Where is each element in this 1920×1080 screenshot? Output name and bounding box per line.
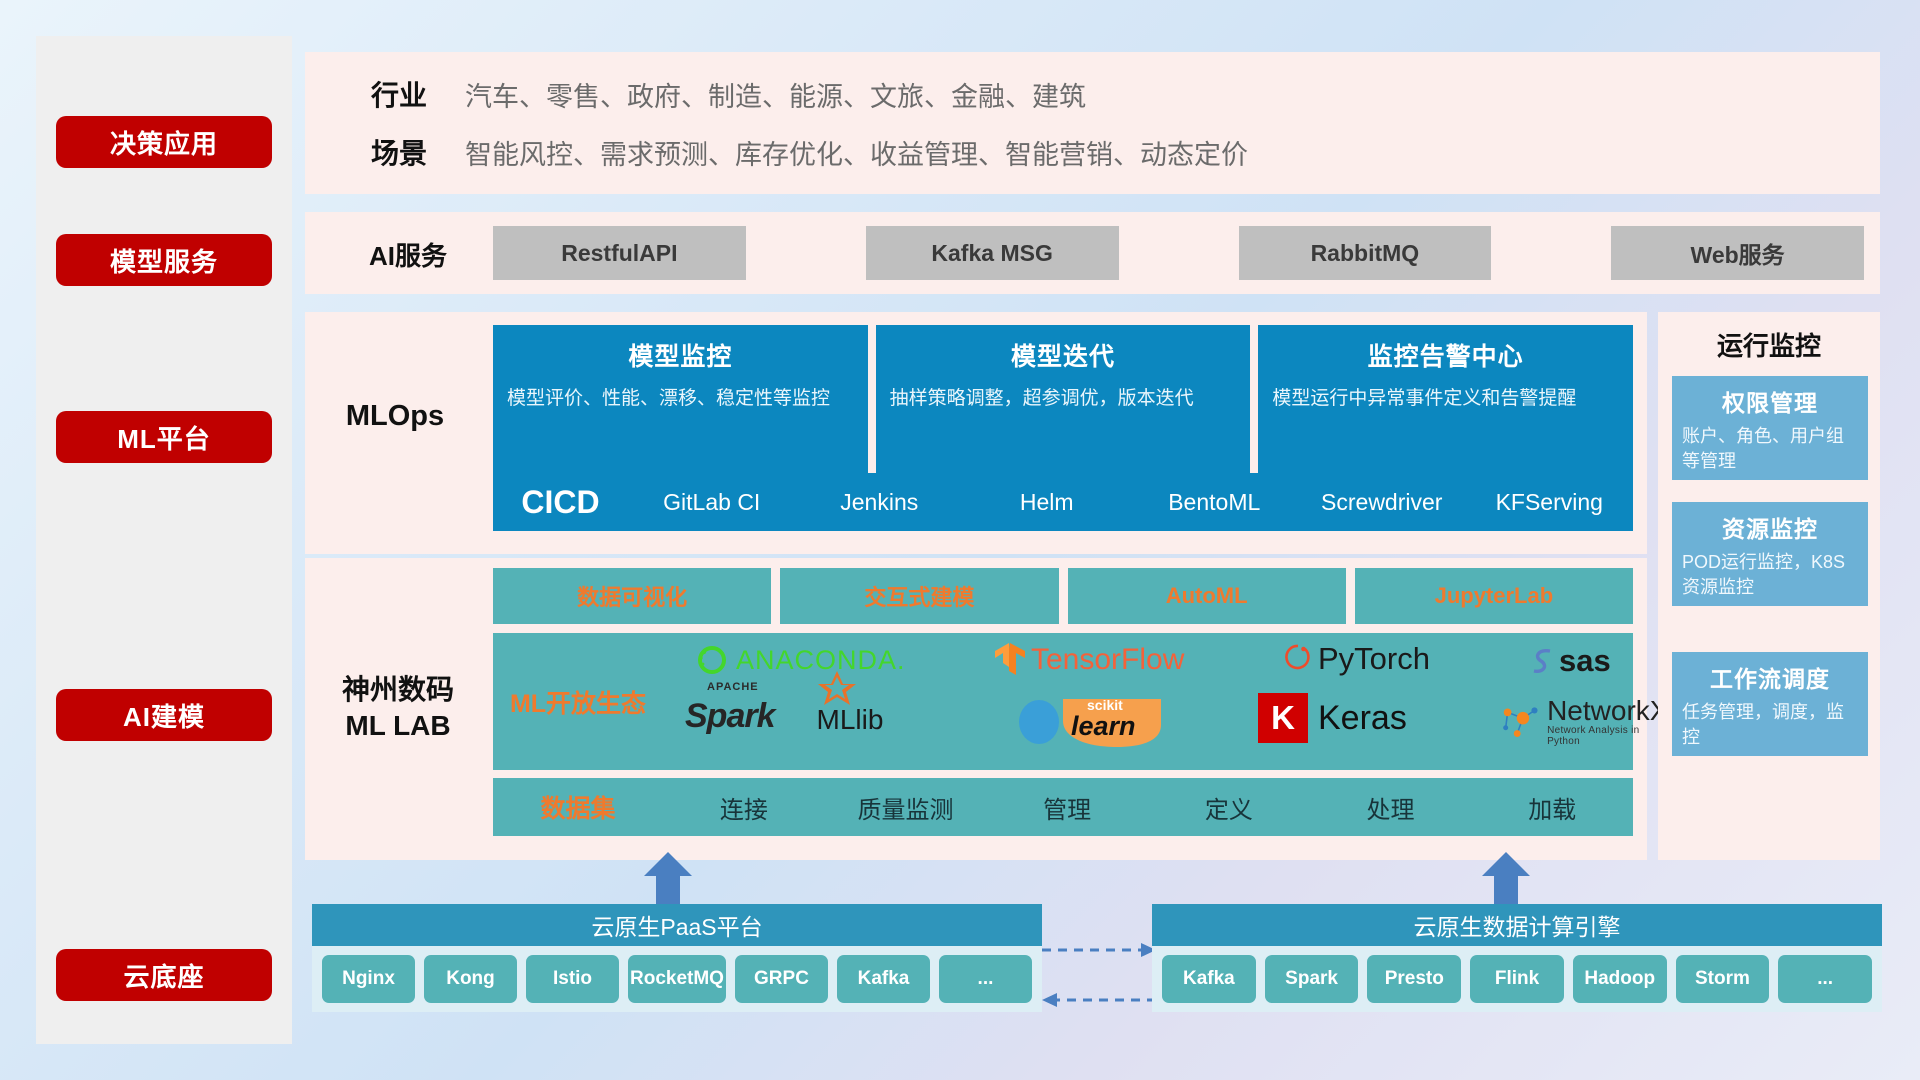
- cloud-data-engine-chip-row: Kafka Spark Presto Flink Hadoop Storm ..…: [1152, 946, 1882, 1012]
- cloud-paas-chip-row: Nginx Kong Istio RocketMQ GRPC Kafka ...: [312, 946, 1042, 1012]
- mllib-wordmark: MLlib: [817, 704, 884, 736]
- card-description: 模型运行中异常事件定义和告警提醒: [1272, 385, 1619, 413]
- runtime-monitor-band: 运行监控 权限管理 账户、角色、用户组等管理 资源监控 POD运行监控，K8S资…: [1658, 312, 1880, 860]
- card-description: 账户、角色、用户组等管理: [1682, 424, 1858, 474]
- modeling-tool-tabs: 数据可视化 交互式建模 AutoML JupyterLab: [493, 568, 1633, 624]
- mlops-card-model-iteration[interactable]: 模型迭代 抽样策略调整，超参调优，版本迭代: [876, 325, 1251, 473]
- ml-ecosystem-box: ML开放生态 ANACONDA. TensorFlow: [493, 633, 1633, 770]
- industry-row: 行业 汽车、零售、政府、制造、能源、文旅、金融、建筑: [333, 74, 1086, 114]
- anaconda-logo: ANACONDA.: [695, 643, 906, 677]
- dataset-bar: 数据集 连接 质量监测 管理 定义 处理 加载: [493, 778, 1633, 836]
- dataset-item-quality-monitor[interactable]: 质量监测: [825, 790, 987, 825]
- sas-wordmark: sas: [1559, 643, 1611, 679]
- ai-service-label: AI服务: [343, 236, 473, 273]
- cicd-item-jenkins[interactable]: Jenkins: [796, 473, 964, 531]
- mlops-label: MLOps: [330, 400, 460, 433]
- ml-ecosystem-label: ML开放生态: [493, 684, 663, 720]
- spark-star-icon: [817, 669, 857, 707]
- card-title: 模型迭代: [890, 337, 1237, 373]
- cicd-item-helm[interactable]: Helm: [963, 473, 1131, 531]
- card-description: 模型评价、性能、漂移、稳定性等监控: [507, 385, 854, 413]
- service-button-kafka-msg[interactable]: Kafka MSG: [866, 226, 1119, 280]
- spark-apache-label: APACHE: [707, 681, 759, 693]
- cloud-chip-istio[interactable]: Istio: [526, 955, 619, 1003]
- rail-item-label: AI建模: [123, 697, 205, 734]
- dataset-item-manage[interactable]: 管理: [986, 790, 1148, 825]
- bidirectional-dashed-connector-icon: [1040, 938, 1158, 1018]
- cloud-data-engine-title: 云原生数据计算引擎: [1152, 904, 1882, 946]
- pytorch-logo: PyTorch: [1283, 641, 1430, 677]
- engine-chip-storm[interactable]: Storm: [1676, 955, 1770, 1003]
- card-title: 模型监控: [507, 337, 854, 373]
- tab-jupyterlab[interactable]: JupyterLab: [1355, 568, 1633, 624]
- rail-item-label: 决策应用: [110, 124, 218, 161]
- scenario-value: 智能风控、需求预测、库存优化、收益管理、智能营销、动态定价: [465, 133, 1248, 172]
- tab-automl[interactable]: AutoML: [1068, 568, 1346, 624]
- engine-chip-kafka[interactable]: Kafka: [1162, 955, 1256, 1003]
- dataset-item-connect[interactable]: 连接: [663, 790, 825, 825]
- rail-item-ai-modeling[interactable]: AI建模: [56, 689, 272, 741]
- scikit-learn-logo: scikit learn: [1013, 695, 1165, 749]
- ml-lab-label-line2: ML LAB: [318, 708, 478, 744]
- card-description: 任务管理，调度，监控: [1682, 700, 1858, 750]
- cloud-paas-group: 云原生PaaS平台 Nginx Kong Istio RocketMQ GRPC…: [312, 904, 1042, 1012]
- cloud-chip-more[interactable]: ...: [939, 955, 1032, 1003]
- up-arrow-icon-paas: [640, 850, 696, 906]
- up-arrow-icon-data-engine: [1478, 850, 1534, 906]
- card-title: 资源监控: [1682, 510, 1858, 544]
- scenario-row: 场景 智能风控、需求预测、库存优化、收益管理、智能营销、动态定价: [333, 132, 1248, 172]
- tensorflow-logo: TensorFlow: [993, 641, 1184, 679]
- cicd-item-gitlab-ci[interactable]: GitLab CI: [628, 473, 796, 531]
- cicd-bar: CICD GitLab CI Jenkins Helm BentoML Scre…: [493, 473, 1633, 531]
- keras-logo: K Keras: [1258, 693, 1407, 743]
- cicd-item-bentoml[interactable]: BentoML: [1131, 473, 1299, 531]
- monitor-card-workflow[interactable]: 工作流调度 任务管理，调度，监控: [1672, 652, 1868, 756]
- ai-service-band: AI服务 RestfulAPI Kafka MSG RabbitMQ Web服务: [305, 212, 1880, 294]
- tab-data-visualization[interactable]: 数据可视化: [493, 568, 771, 624]
- anaconda-icon: [695, 643, 729, 677]
- networkx-wordmark: NetworkX: [1547, 697, 1670, 725]
- engine-chip-spark[interactable]: Spark: [1265, 955, 1359, 1003]
- industry-label: 行业: [333, 74, 465, 114]
- card-title: 权限管理: [1682, 384, 1858, 418]
- card-title: 监控告警中心: [1272, 337, 1619, 373]
- mlops-card-model-monitoring[interactable]: 模型监控 模型评价、性能、漂移、稳定性等监控: [493, 325, 868, 473]
- monitor-card-permission[interactable]: 权限管理 账户、角色、用户组等管理: [1672, 376, 1868, 480]
- ai-service-button-group: RestfulAPI Kafka MSG RabbitMQ Web服务: [493, 226, 1864, 280]
- card-description: 抽样策略调整，超参调优，版本迭代: [890, 385, 1237, 413]
- mlops-card-group: 模型监控 模型评价、性能、漂移、稳定性等监控 模型迭代 抽样策略调整，超参调优，…: [493, 325, 1633, 473]
- rail-item-label: 云底座: [123, 957, 204, 994]
- cicd-item-kfserving[interactable]: KFServing: [1466, 473, 1634, 531]
- spark-mllib-logo: APACHE Spark MLlib: [685, 697, 883, 736]
- rail-item-model-service[interactable]: 模型服务: [56, 234, 272, 286]
- rail-item-ml-platform[interactable]: ML平台: [56, 411, 272, 463]
- ml-lab-label-line1: 神州数码: [318, 672, 478, 708]
- engine-chip-more[interactable]: ...: [1778, 955, 1872, 1003]
- cicd-title: CICD: [493, 473, 628, 531]
- service-button-rabbitmq[interactable]: RabbitMQ: [1239, 226, 1492, 280]
- rail-item-label: ML平台: [117, 419, 211, 456]
- cloud-chip-grpc[interactable]: GRPC: [735, 955, 828, 1003]
- dataset-item-define[interactable]: 定义: [1148, 790, 1310, 825]
- sas-logo: sas: [1528, 643, 1611, 679]
- networkx-logo: NetworkX Network Analysis in Python: [1498, 697, 1670, 747]
- ml-lab-label: 神州数码 ML LAB: [318, 672, 478, 744]
- monitor-card-resource[interactable]: 资源监控 POD运行监控，K8S资源监控: [1672, 502, 1868, 606]
- keras-wordmark: Keras: [1318, 699, 1407, 738]
- cloud-chip-nginx[interactable]: Nginx: [322, 955, 415, 1003]
- cloud-chip-kong[interactable]: Kong: [424, 955, 517, 1003]
- layer-rail: 决策应用 模型服务 ML平台 AI建模 云底座: [36, 36, 292, 1044]
- dataset-title: 数据集: [493, 789, 663, 825]
- pytorch-wordmark: PyTorch: [1318, 641, 1430, 677]
- tab-interactive-modeling[interactable]: 交互式建模: [780, 568, 1058, 624]
- dataset-item-load[interactable]: 加载: [1471, 790, 1633, 825]
- engine-chip-flink[interactable]: Flink: [1470, 955, 1564, 1003]
- engine-chip-presto[interactable]: Presto: [1367, 955, 1461, 1003]
- learn-word: learn: [1071, 711, 1136, 742]
- mlops-card-alert-center[interactable]: 监控告警中心 模型运行中异常事件定义和告警提醒: [1258, 325, 1633, 473]
- card-description: POD运行监控，K8S资源监控: [1682, 550, 1858, 600]
- cloud-paas-title: 云原生PaaS平台: [312, 904, 1042, 946]
- cloud-chip-rocketmq[interactable]: RocketMQ: [628, 955, 726, 1003]
- rail-item-decision-app[interactable]: 决策应用: [56, 116, 272, 168]
- service-button-web[interactable]: Web服务: [1611, 226, 1864, 280]
- cicd-item-screwdriver[interactable]: Screwdriver: [1298, 473, 1466, 531]
- rail-item-cloud-base[interactable]: 云底座: [56, 949, 272, 1001]
- cloud-chip-kafka[interactable]: Kafka: [837, 955, 930, 1003]
- ecosystem-logo-grid: ANACONDA. TensorFlow PyTorch sas: [663, 633, 1633, 770]
- dataset-item-process[interactable]: 处理: [1310, 790, 1472, 825]
- spark-wordmark: Spark: [685, 697, 775, 735]
- engine-chip-hadoop[interactable]: Hadoop: [1573, 955, 1667, 1003]
- runtime-monitor-title: 运行监控: [1658, 326, 1880, 363]
- networkx-icon: [1498, 700, 1544, 744]
- keras-icon: K: [1258, 693, 1308, 743]
- service-button-restfulapi[interactable]: RestfulAPI: [493, 226, 746, 280]
- tensorflow-wordmark: TensorFlow: [1031, 643, 1184, 677]
- industry-value: 汽车、零售、政府、制造、能源、文旅、金融、建筑: [465, 75, 1086, 114]
- decision-application-band: 行业 汽车、零售、政府、制造、能源、文旅、金融、建筑 场景 智能风控、需求预测、…: [305, 52, 1880, 194]
- rail-item-label: 模型服务: [110, 242, 218, 279]
- networkx-tagline: Network Analysis in Python: [1547, 725, 1670, 747]
- card-title: 工作流调度: [1682, 660, 1858, 694]
- sas-icon: [1528, 645, 1558, 677]
- tensorflow-icon: [993, 641, 1027, 679]
- cloud-data-engine-group: 云原生数据计算引擎 Kafka Spark Presto Flink Hadoo…: [1152, 904, 1882, 1012]
- pytorch-icon: [1283, 642, 1313, 676]
- scenario-label: 场景: [333, 132, 465, 172]
